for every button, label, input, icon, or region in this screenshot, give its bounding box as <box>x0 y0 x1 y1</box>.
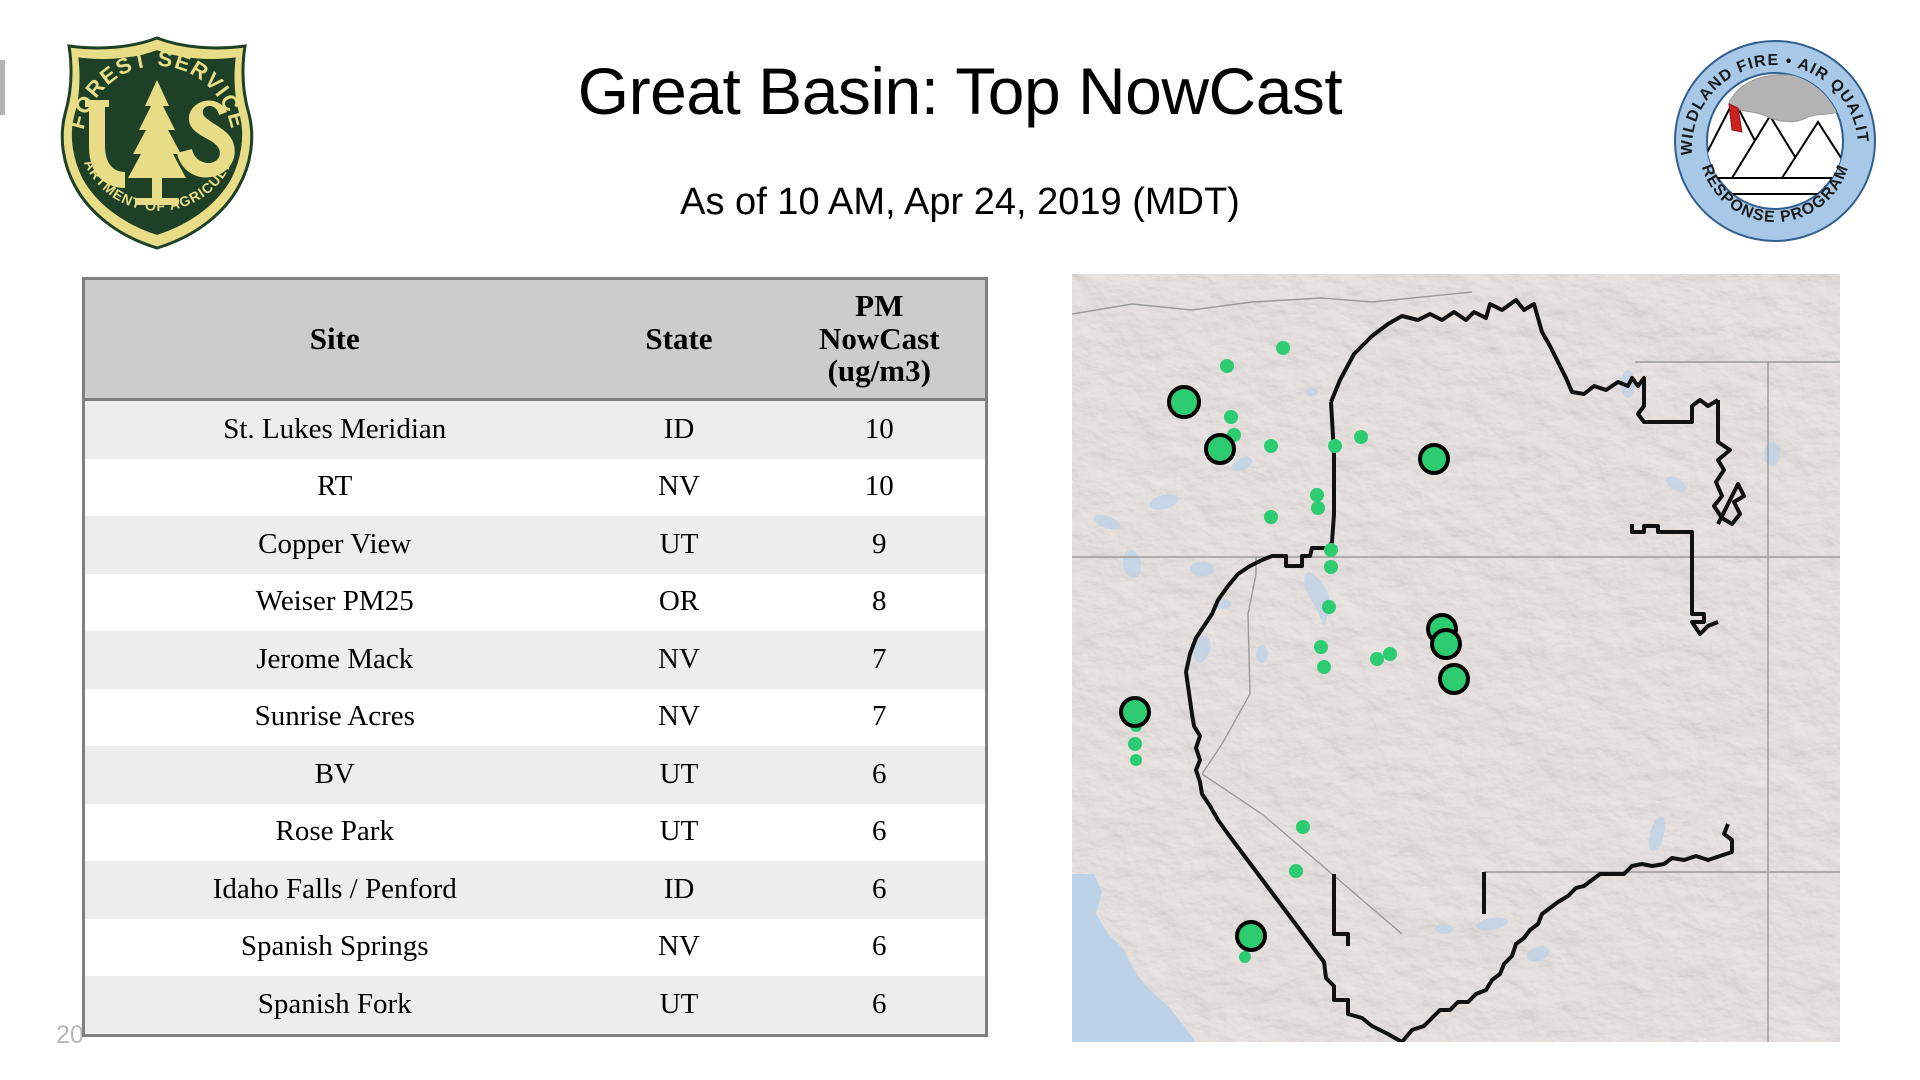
pm-nowcast-cell: 6 <box>774 976 986 1034</box>
map-marker-small[interactable] <box>1264 510 1278 524</box>
map-marker-small[interactable] <box>1324 560 1338 574</box>
site-cell: Jerome Mack <box>85 631 585 689</box>
map-marker-small[interactable] <box>1354 430 1368 444</box>
map-marker-small[interactable] <box>1328 439 1342 453</box>
map-marker-small[interactable] <box>1310 488 1324 502</box>
map-marker-large[interactable] <box>1121 698 1149 726</box>
pm-nowcast-cell: 9 <box>774 516 986 574</box>
map-marker-small[interactable] <box>1264 439 1278 453</box>
pm-nowcast-cell: 7 <box>774 631 986 689</box>
pm-nowcast-cell: 6 <box>774 746 986 804</box>
map-marker-large[interactable] <box>1237 922 1265 950</box>
column-header-pm-nowcast: PM NowCast (ug/m3) <box>774 280 986 400</box>
table-row: Spanish ForkUT6 <box>85 976 985 1034</box>
site-cell: Spanish Springs <box>85 919 585 977</box>
map-marker-large[interactable] <box>1169 387 1199 417</box>
pm-nowcast-cell: 10 <box>774 400 986 459</box>
column-header-state: State <box>585 280 774 400</box>
background-timestamp-note: 20 <box>56 1021 84 1050</box>
wfaqrp-logo: WILDLAND FIRE • AIR QUALITY RESPONSE PRO… <box>1672 38 1878 244</box>
map-marker-small[interactable] <box>1130 754 1142 766</box>
map-marker-large[interactable] <box>1420 445 1448 473</box>
state-cell: UT <box>585 976 774 1034</box>
column-header-site: Site <box>85 280 585 400</box>
page-subtitle: As of 10 AM, Apr 24, 2019 (MDT) <box>300 182 1620 224</box>
site-cell: Copper View <box>85 516 585 574</box>
state-cell: NV <box>585 631 774 689</box>
map-marker-small[interactable] <box>1383 647 1397 661</box>
state-cell: NV <box>585 689 774 747</box>
nowcast-table: Site State PM NowCast (ug/m3) St. Lukes … <box>85 280 985 1034</box>
map-marker-small[interactable] <box>1239 951 1251 963</box>
column-header-pm-line2: NowCast <box>774 323 986 356</box>
map-marker-small[interactable] <box>1311 501 1325 515</box>
nowcast-table-container: Site State PM NowCast (ug/m3) St. Lukes … <box>82 277 988 1037</box>
site-cell: Weiser PM25 <box>85 574 585 632</box>
table-row: St. Lukes MeridianID10 <box>85 400 985 459</box>
map-marker-small[interactable] <box>1314 640 1328 654</box>
table-row: Weiser PM25OR8 <box>85 574 985 632</box>
map-marker-small[interactable] <box>1296 820 1310 834</box>
site-cell: Rose Park <box>85 804 585 862</box>
map-marker-small[interactable] <box>1324 543 1338 557</box>
site-cell: Sunrise Acres <box>85 689 585 747</box>
column-header-site-label: Site <box>310 321 360 356</box>
us-forest-service-logo: FOREST SERVICE DEPARTMENT OF AGRICULTURE <box>55 32 260 254</box>
pm-nowcast-cell: 10 <box>774 459 986 517</box>
column-header-pm-line1: PM <box>774 290 986 323</box>
map-marker-small[interactable] <box>1317 660 1331 674</box>
pm-nowcast-cell: 6 <box>774 861 986 919</box>
state-cell: NV <box>585 459 774 517</box>
pm-nowcast-cell: 6 <box>774 804 986 862</box>
state-cell: UT <box>585 746 774 804</box>
table-row: Idaho Falls / PenfordID6 <box>85 861 985 919</box>
table-row: Sunrise AcresNV7 <box>85 689 985 747</box>
map-marker-large[interactable] <box>1206 435 1234 463</box>
site-cell: Idaho Falls / Penford <box>85 861 585 919</box>
left-edge-tick <box>0 60 5 115</box>
state-cell: ID <box>585 861 774 919</box>
table-row: RTNV10 <box>85 459 985 517</box>
map-marker-small[interactable] <box>1128 737 1142 751</box>
table-row: Spanish SpringsNV6 <box>85 919 985 977</box>
table-row: BVUT6 <box>85 746 985 804</box>
pm-nowcast-cell: 7 <box>774 689 986 747</box>
map-marker-small[interactable] <box>1289 864 1303 878</box>
nowcast-table-body: St. Lukes MeridianID10RTNV10Copper ViewU… <box>85 400 985 1034</box>
table-header-row: Site State PM NowCast (ug/m3) <box>85 280 985 400</box>
column-header-pm-line3: (ug/m3) <box>774 355 986 388</box>
map-marker-small[interactable] <box>1224 410 1238 424</box>
state-cell: UT <box>585 804 774 862</box>
great-basin-map[interactable] <box>1072 274 1840 1042</box>
pm-nowcast-cell: 6 <box>774 919 986 977</box>
pm-nowcast-cell: 8 <box>774 574 986 632</box>
site-cell: Spanish Fork <box>85 976 585 1034</box>
site-cell: RT <box>85 459 585 517</box>
map-marker-small[interactable] <box>1322 600 1336 614</box>
table-row: Rose ParkUT6 <box>85 804 985 862</box>
column-header-state-label: State <box>645 321 712 356</box>
state-cell: NV <box>585 919 774 977</box>
map-marker-small[interactable] <box>1220 359 1234 373</box>
state-cell: ID <box>585 400 774 459</box>
table-row: Copper ViewUT9 <box>85 516 985 574</box>
page-title: Great Basin: Top NowCast <box>300 55 1620 128</box>
state-cell: OR <box>585 574 774 632</box>
site-cell: St. Lukes Meridian <box>85 400 585 459</box>
map-marker-large[interactable] <box>1440 665 1468 693</box>
map-marker-small[interactable] <box>1370 652 1384 666</box>
map-marker-small[interactable] <box>1276 341 1290 355</box>
site-cell: BV <box>85 746 585 804</box>
state-cell: UT <box>585 516 774 574</box>
map-marker-large[interactable] <box>1432 630 1460 658</box>
table-row: Jerome MackNV7 <box>85 631 985 689</box>
